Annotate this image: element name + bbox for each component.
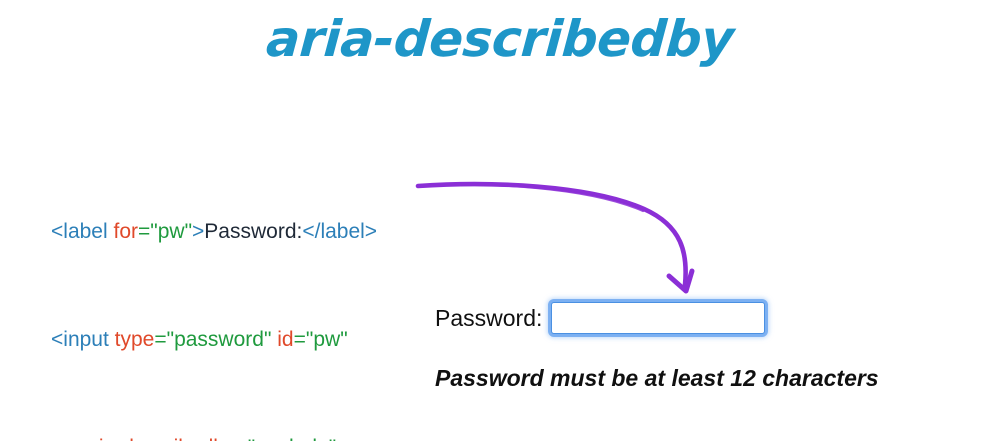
code-token-tag: </label> [302,220,377,243]
code-token-attribute: aria-describedby [80,436,235,441]
code-token-tag: > [336,436,348,441]
code-line: <input type="password" id="pw" [16,299,442,326]
code-token-value: ="password" [154,328,271,351]
code-token-text: Password: [204,220,302,243]
code-snippet: <label for="pw">Password:</label> <input… [16,110,442,441]
code-token-tag: <label [51,220,113,243]
code-line: <label for="pw">Password:</label> [16,191,442,218]
code-token-attribute: for [113,220,138,243]
password-form-row: Password: [435,302,765,334]
page-title: aria-describedby [0,10,1000,68]
code-token-indent [51,436,80,441]
code-token-attribute: type [115,328,155,351]
code-token-attribute: id [277,328,293,351]
code-token-value: ="pw-help" [235,436,336,441]
password-label: Password: [435,307,542,330]
code-token-value: ="pw" [294,328,348,351]
curved-arrow-icon [400,165,720,310]
code-line: aria-describedby="pw-help"> [16,407,442,434]
code-token-value: ="pw" [138,220,192,243]
code-token-tag: > [192,220,204,243]
slide-canvas: aria-describedby <label for="pw">Passwor… [0,0,1000,441]
password-input[interactable] [551,302,765,334]
password-help-text: Password must be at least 12 characters [435,365,879,392]
code-token-tag: <input [51,328,115,351]
